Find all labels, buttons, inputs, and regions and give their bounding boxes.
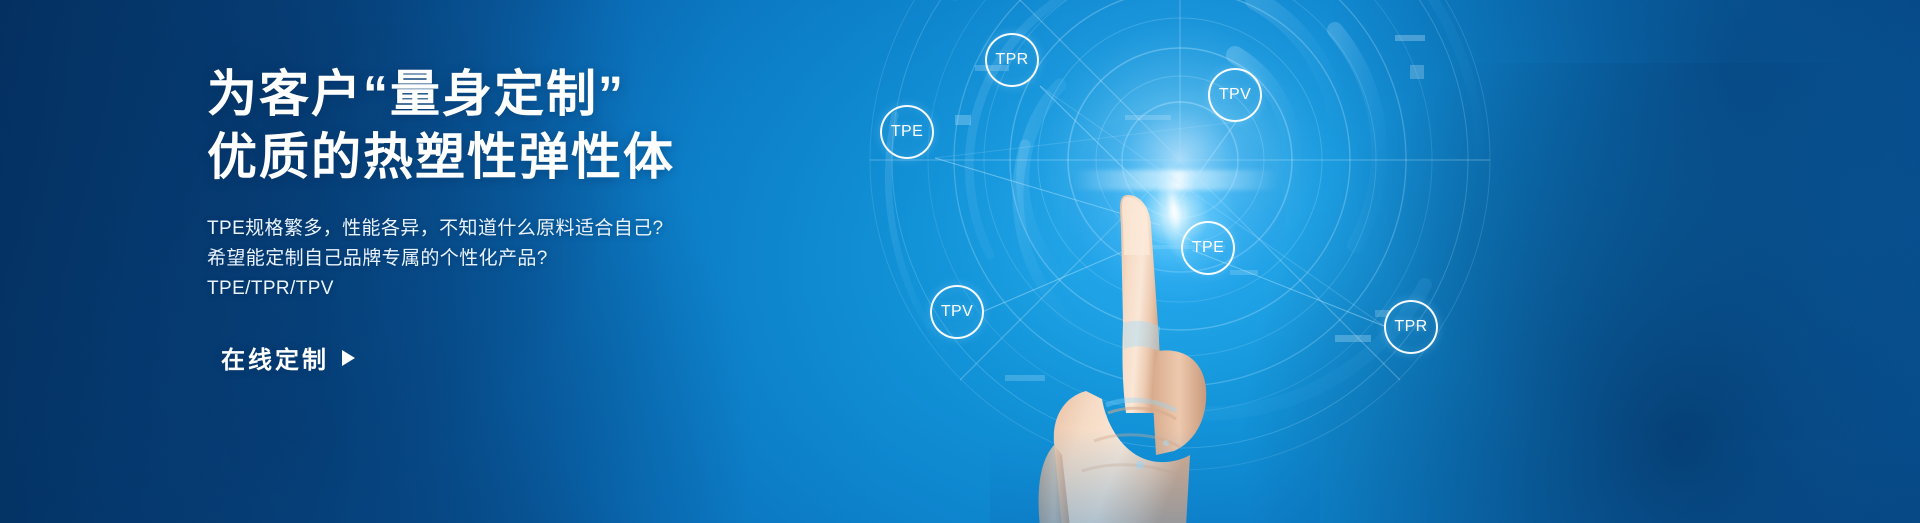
badge-tpv-top-right[interactable]: TPV <box>1208 68 1262 122</box>
headline-line-2: 优质的热塑性弹性体 <box>207 127 847 188</box>
badge-tpr-top[interactable]: TPR <box>985 33 1039 87</box>
headline-line-1: 为客户“量身定制” <box>207 66 625 122</box>
cta-label: 在线定制 <box>221 340 329 375</box>
badge-tpr-far-right[interactable]: TPR <box>1384 300 1438 354</box>
subtext-line-2: 希望能定制自己品牌专属的个性化产品? <box>207 244 847 274</box>
hero-subtext: TPE规格繁多，性能各异，不知道什么原料适合自己? 希望能定制自己品牌专属的个性… <box>207 214 847 304</box>
page-title: 为客户“量身定制” 优质的热塑性弹性体 <box>207 64 847 188</box>
badge-tpe-left[interactable]: TPE <box>880 105 934 159</box>
hero-banner: TPR TPV TPE TPE TPV TPR 为客户“量身定制” 优质的热塑性… <box>0 0 1920 523</box>
badge-tpe-center-right[interactable]: TPE <box>1181 221 1235 275</box>
badge-tpv-bottom-left[interactable]: TPV <box>930 285 984 339</box>
online-customization-button[interactable]: 在线定制 <box>207 340 355 375</box>
play-triangle-icon <box>342 350 355 366</box>
subtext-line-1: TPE规格繁多，性能各异，不知道什么原料适合自己? <box>207 214 847 244</box>
hero-copy: 为客户“量身定制” 优质的热塑性弹性体 TPE规格繁多，性能各异，不知道什么原料… <box>207 64 847 375</box>
subtext-line-3: TPE/TPR/TPV <box>207 274 847 304</box>
